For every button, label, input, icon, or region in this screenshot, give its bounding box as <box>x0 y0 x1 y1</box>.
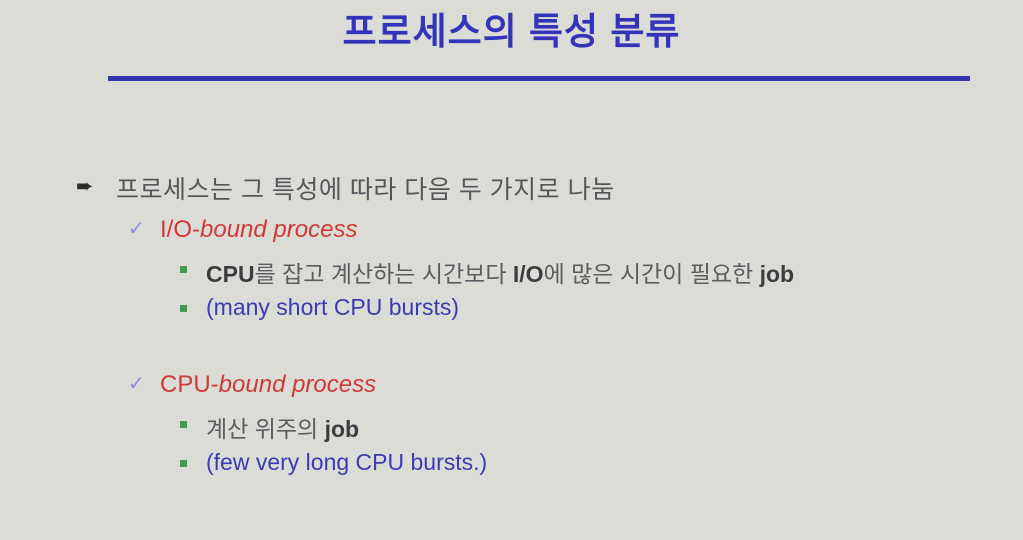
io-bound-prefix: I/O- <box>160 216 200 243</box>
green-square-bullet-icon <box>180 305 187 312</box>
io-bound-heading: I/O-bound process <box>160 216 357 243</box>
bullet-level3-io-desc: CPU를 잡고 계산하는 시간보다 I/O에 많은 시간이 필요한 job <box>0 255 1023 289</box>
bullet-level1-text: 프로세스는 그 특성에 따라 다음 두 가지로 나눔 <box>116 176 615 204</box>
cpu-desc-text: 계산 위주의 job <box>206 416 359 442</box>
check-icon: ✓ <box>128 374 145 394</box>
green-square-bullet-icon <box>180 266 187 273</box>
bullet-level3-cpu-desc: 계산 위주의 job <box>0 410 1023 444</box>
cpu-bursts-text: (few very long CPU bursts.) <box>206 449 487 475</box>
io-desc-part-2: I/O <box>513 261 544 287</box>
cpu-desc-part-1: job <box>325 416 360 442</box>
title-block: 프로세스의 특성 분류 <box>0 12 1023 53</box>
io-desc-text: CPU를 잡고 계산하는 시간보다 I/O에 많은 시간이 필요한 job <box>206 261 794 287</box>
bullet-level1: ➨ 프로세스는 그 특성에 따라 다음 두 가지로 나눔 <box>0 170 1023 208</box>
slide-body: ➨ 프로세스는 그 특성에 따라 다음 두 가지로 나눔 ✓ I/O-bound… <box>0 170 1023 482</box>
green-square-bullet-icon <box>180 460 187 467</box>
page-title: 프로세스의 특성 분류 <box>343 12 681 53</box>
section-spacer <box>0 327 1023 363</box>
io-desc-part-1: 를 잡고 계산하는 시간보다 <box>255 261 513 287</box>
cpu-bound-italic: bound process <box>219 371 376 398</box>
io-desc-part-4: job <box>760 261 795 287</box>
slide-canvas: 프로세스의 특성 분류 ➨ 프로세스는 그 특성에 따라 다음 두 가지로 나눔… <box>0 0 1023 540</box>
arrow-right-icon: ➨ <box>76 176 94 197</box>
bullet-level3-io-bursts: (many short CPU bursts) <box>0 294 1023 327</box>
cpu-desc-part-0: 계산 위주의 <box>206 416 325 442</box>
bullet-level2-cpu-bound: ✓ CPU-bound process <box>0 371 1023 405</box>
io-bound-italic: bound process <box>200 216 357 243</box>
title-divider <box>108 76 970 81</box>
cpu-bound-prefix: CPU- <box>160 371 219 398</box>
bullet-level3-cpu-bursts: (few very long CPU bursts.) <box>0 449 1023 482</box>
io-desc-part-3: 에 많은 시간이 필요한 <box>544 261 760 287</box>
bullet-level2-io-bound: ✓ I/O-bound process <box>0 216 1023 250</box>
green-square-bullet-icon <box>180 421 187 428</box>
io-bursts-text: (many short CPU bursts) <box>206 294 459 320</box>
check-icon: ✓ <box>128 219 145 239</box>
io-desc-part-0: CPU <box>206 261 255 287</box>
cpu-bound-heading: CPU-bound process <box>160 371 376 398</box>
